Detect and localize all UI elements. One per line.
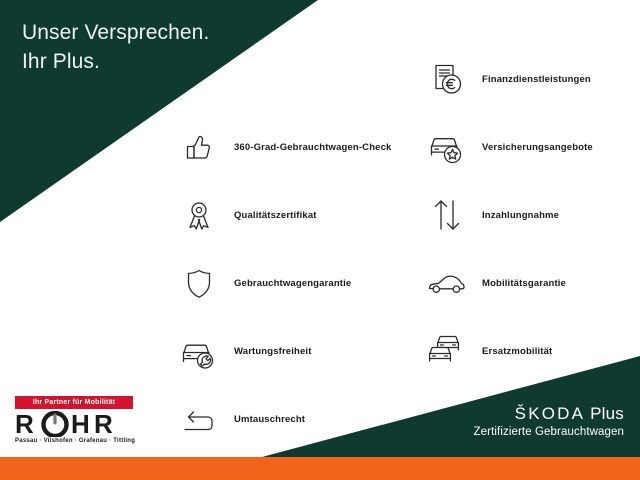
feature-label: Ersatzmobilität xyxy=(482,346,552,357)
feature-column-left: 360-Grad-Gebrauchtwagen-Check Qualitätsz… xyxy=(176,118,391,458)
skoda-wordmark: ŠKODA xyxy=(515,404,586,423)
feature-column-right: Finanzdienstleistungen Versicherungsange… xyxy=(424,50,593,390)
orange-bottom-bar xyxy=(0,457,640,480)
feature-label: Versicherungsangebote xyxy=(482,142,593,153)
feature-label: Gebrauchtwagengarantie xyxy=(234,278,351,289)
feature-item: Wartungsfreiheit xyxy=(176,322,391,380)
feature-item: 360-Grad-Gebrauchtwagen-Check xyxy=(176,118,391,176)
promo-banner: Unser Versprechen. Ihr Plus. 360-Grad-Ge… xyxy=(0,0,640,480)
feature-item: Versicherungsangebote xyxy=(424,118,593,176)
feature-label: Inzahlungnahme xyxy=(482,210,559,221)
feature-item: Ersatzmobilität xyxy=(424,322,593,380)
rohr-locations: Passau · Vilshofen · Grafenau · Tittling xyxy=(15,438,133,444)
skoda-plus-branding: ŠKODA Plus Zertifizierte Gebrauchtwagen xyxy=(474,404,624,440)
rohr-wordmark-graphic: R H R xyxy=(15,411,133,437)
feature-item: Gebrauchtwagengarantie xyxy=(176,254,391,312)
feature-label: Finanzdienstleistungen xyxy=(482,74,591,85)
car-side-icon xyxy=(424,260,470,306)
feature-item: Inzahlungnahme xyxy=(424,186,593,244)
feature-item: Finanzdienstleistungen xyxy=(424,50,593,108)
feature-item: Mobilitätsgarantie xyxy=(424,254,593,312)
car-wrench-icon xyxy=(176,328,222,374)
skoda-plus-label: Plus xyxy=(590,404,624,423)
feature-label: Umtauschrecht xyxy=(234,414,305,425)
rohr-dealer-logo: Ihr Partner für Mobilität R H R Passau ·… xyxy=(15,396,133,444)
feature-label: 360-Grad-Gebrauchtwagen-Check xyxy=(234,142,391,153)
headline: Unser Versprechen. Ihr Plus. xyxy=(22,18,209,76)
svg-text:R: R xyxy=(15,411,34,437)
return-arrow-icon xyxy=(176,396,222,442)
car-star-icon xyxy=(424,124,470,170)
award-rosette-icon xyxy=(176,192,222,238)
up-down-arrows-icon xyxy=(424,192,470,238)
rohr-tagline-banner: Ihr Partner für Mobilität xyxy=(15,396,133,409)
thumbs-up-icon xyxy=(176,124,222,170)
svg-text:H: H xyxy=(71,411,90,437)
svg-text:R: R xyxy=(94,411,113,437)
two-cars-icon xyxy=(424,328,470,374)
skoda-tagline: Zertifizierte Gebrauchtwagen xyxy=(474,425,624,440)
feature-label: Qualitätszertifikat xyxy=(234,210,317,221)
headline-line-2: Ihr Plus. xyxy=(22,47,209,76)
skoda-brand-line: ŠKODA Plus xyxy=(474,404,624,424)
feature-item: Umtauschrecht xyxy=(176,390,391,448)
feature-label: Mobilitätsgarantie xyxy=(482,278,566,289)
rohr-wordmark: R H R xyxy=(15,411,133,437)
headline-line-1: Unser Versprechen. xyxy=(22,18,209,47)
shield-icon xyxy=(176,260,222,306)
document-euro-icon xyxy=(424,56,470,102)
feature-item: Qualitätszertifikat xyxy=(176,186,391,244)
feature-label: Wartungsfreiheit xyxy=(234,346,312,357)
